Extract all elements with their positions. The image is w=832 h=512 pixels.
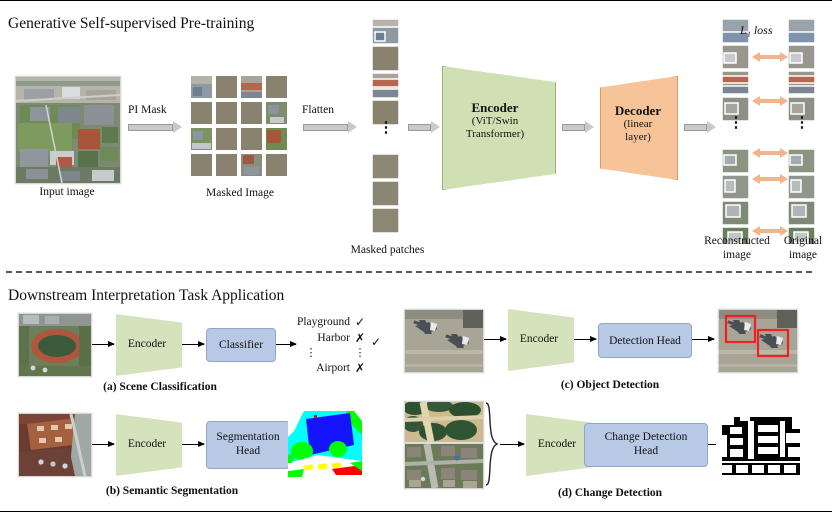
input-image-caption: Input image	[15, 186, 119, 198]
scene-classification-caption: (a) Scene Classification	[50, 381, 270, 393]
seg-encoder-label: Encoder	[116, 438, 178, 450]
change-input-to-encoder-arrow	[500, 444, 524, 445]
original-caption-1: Original	[776, 235, 830, 249]
object-detection-caption: (c) Object Detection	[500, 379, 720, 391]
decoder-title: Decoder	[602, 103, 674, 118]
decoder-to-output-arrow	[684, 123, 716, 132]
change-detection-output-mask	[716, 413, 804, 484]
scene-final-prediction-mark: ✓	[368, 335, 384, 349]
pi-mask-label: PI Mask	[128, 104, 167, 116]
class-name-2: ⋮	[272, 349, 350, 358]
masked-image-grid	[190, 75, 289, 186]
class-mark-3: ✗	[350, 361, 370, 375]
change-detection-head: Change Detection Head	[584, 423, 708, 467]
detection-output-image	[718, 309, 798, 373]
figure-root: Generative Self-supervised Pre-training	[0, 0, 832, 512]
reconstructed-caption-2: image	[698, 249, 776, 263]
change-detection-input-image-t1	[404, 401, 484, 443]
original-caption-2: image	[776, 249, 830, 263]
change-detection-input-bracket	[484, 401, 500, 487]
semantic-segmentation-caption: (b) Semantic Segmentation	[62, 485, 282, 497]
scene-classification-input-image	[18, 313, 92, 377]
pretraining-section-title: Generative Self-supervised Pre-training	[8, 15, 254, 33]
class-name-1: Harbor	[272, 332, 350, 344]
encoder-subtitle-1: (ViT/Swin	[442, 115, 548, 128]
downstream-section-title: Downstream Interpretation Task Applicati…	[8, 287, 284, 305]
flatten-arrow	[303, 123, 357, 132]
flatten-label: Flatten	[302, 104, 334, 116]
segmentation-head: Segmentation Head	[206, 421, 290, 469]
change-detection-input-image-t2	[404, 443, 484, 489]
l1-loss-label: L₁ loss	[740, 23, 773, 38]
encoder-subtitle-2: Transformer)	[442, 128, 548, 141]
masked-patches-ellipsis: ⋮	[372, 125, 400, 139]
det-encoder-label: Encoder	[508, 333, 570, 345]
class-name-0: Playground	[272, 316, 350, 328]
reconstructed-caption-1: Reconstructed	[698, 235, 776, 249]
encoder-to-decoder-arrow	[562, 123, 594, 132]
scene-encoder-label: Encoder	[116, 338, 178, 350]
loss-arrow-3	[752, 149, 788, 156]
change-head-label-1: Change Detection	[605, 431, 688, 445]
scene-encoder-to-head-arrow	[182, 344, 204, 345]
det-input-to-encoder-arrow	[484, 339, 506, 340]
change-encoder-label: Encoder	[526, 438, 588, 450]
class-mark-0: ✓	[350, 315, 370, 329]
encoder-label: Encoder (ViT/Swin Transformer)	[442, 100, 548, 141]
patches-to-encoder-arrow	[408, 123, 440, 132]
encoder-title: Encoder	[442, 100, 548, 115]
scene-classifier-label: Classifier	[219, 339, 263, 351]
scene-class-list: Playground ✓ Harbor ✗ ⋮ ⋮ Airport ✗	[272, 314, 372, 376]
scene-input-to-encoder-arrow	[92, 344, 114, 345]
detection-head: Detection Head	[598, 323, 692, 358]
detection-input-image	[404, 309, 484, 373]
loss-arrow-1	[752, 53, 788, 60]
masked-image-caption: Masked Image	[186, 187, 294, 199]
scene-classifier-head: Classifier	[206, 328, 276, 362]
change-head-label-2: Head	[605, 445, 688, 459]
reconstructed-image-column	[722, 19, 750, 249]
original-column-ellipsis: ⋮	[788, 120, 816, 134]
pi-mask-arrow	[128, 123, 182, 132]
loss-arrow-4	[752, 175, 788, 182]
section-divider	[6, 271, 812, 273]
seg-encoder-to-head-arrow	[182, 444, 204, 445]
decoder-subtitle-1: (linear	[602, 118, 674, 131]
class-mark-2: ⋮	[350, 349, 370, 358]
detection-head-label: Detection Head	[609, 335, 681, 347]
masked-patches-column-lower	[372, 208, 400, 239]
change-detection-caption: (d) Change Detection	[500, 487, 720, 499]
class-mark-1: ✗	[350, 331, 370, 345]
seg-input-to-encoder-arrow	[92, 444, 114, 445]
loss-arrow-5	[752, 227, 788, 234]
segmentation-input-image	[18, 413, 92, 477]
reconstructed-caption: Reconstructed image	[698, 235, 776, 263]
original-caption: Original image	[776, 235, 830, 263]
reconstructed-column-ellipsis: ⋮	[722, 120, 750, 134]
det-head-to-output-arrow	[692, 339, 714, 340]
original-image-column	[788, 19, 816, 249]
det-encoder-to-head-arrow	[574, 339, 596, 340]
input-image	[15, 76, 121, 184]
class-name-3: Airport	[272, 362, 350, 374]
decoder-subtitle-2: layer)	[602, 131, 674, 144]
masked-patches-caption: Masked patches	[330, 244, 445, 256]
decoder-label: Decoder (linear layer)	[602, 103, 674, 144]
loss-arrow-2	[752, 97, 788, 104]
segmentation-output-map	[288, 411, 362, 482]
seg-head-label-1: Segmentation	[216, 431, 279, 445]
seg-head-label-2: Head	[216, 445, 279, 459]
